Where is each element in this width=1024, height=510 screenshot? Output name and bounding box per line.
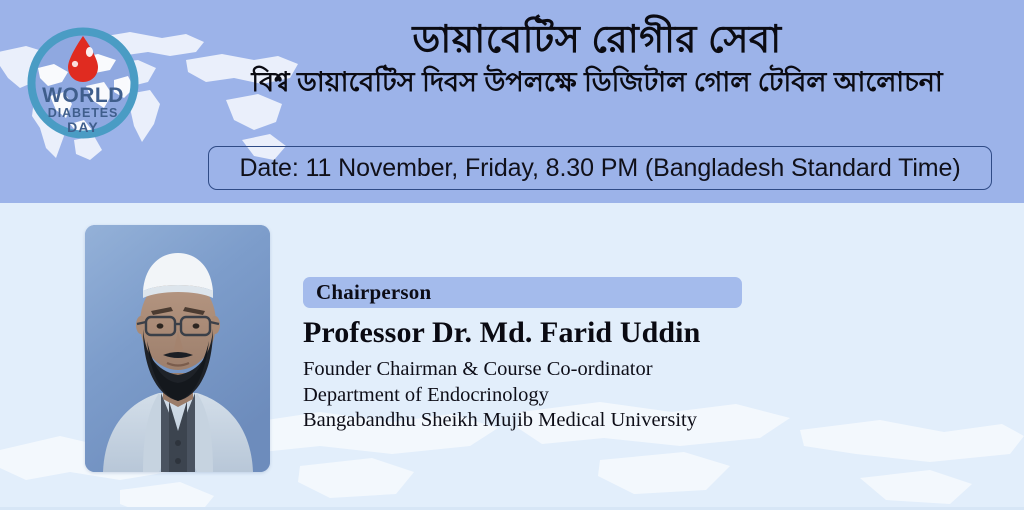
- logo-line-world: WORLD: [42, 84, 124, 107]
- poster-title: ডায়াবেটিস রোগীর সেবা: [180, 18, 1014, 63]
- affiliation-line: Department of Endocrinology: [303, 383, 863, 409]
- world-diabetes-day-logo: WORLD DIABETES DAY: [24, 24, 142, 142]
- role-badge-label: Chairperson: [303, 280, 431, 305]
- poster-header: WORLD DIABETES DAY ডায়াবেটিস রোগীর সেবা…: [0, 0, 1024, 203]
- event-date-box: Date: 11 November, Friday, 8.30 PM (Bang…: [208, 146, 992, 190]
- title-block: ডায়াবেটিস রোগীর সেবা বিশ্ব ডায়াবেটিস দ…: [180, 18, 1014, 100]
- logo-line-day: DAY: [67, 119, 99, 135]
- speaker-name: Professor Dr. Md. Farid Uddin: [303, 316, 700, 350]
- logo-line-diabetes: DIABETES: [48, 106, 118, 120]
- role-badge: Chairperson: [303, 277, 742, 308]
- speaker-affiliation: Founder Chairman & Course Co-ordinator D…: [303, 357, 863, 434]
- event-poster: WORLD DIABETES DAY ডায়াবেটিস রোগীর সেবা…: [0, 0, 1024, 510]
- affiliation-line: Founder Chairman & Course Co-ordinator: [303, 357, 863, 383]
- event-date-text: Date: 11 November, Friday, 8.30 PM (Bang…: [239, 154, 960, 183]
- poster-subtitle: বিশ্ব ডায়াবেটিস দিবস উপলক্ষে ডিজিটাল গো…: [180, 65, 1014, 100]
- speaker-portrait-photo: [85, 225, 270, 472]
- affiliation-line: Bangabandhu Sheikh Mujib Medical Univers…: [303, 408, 863, 434]
